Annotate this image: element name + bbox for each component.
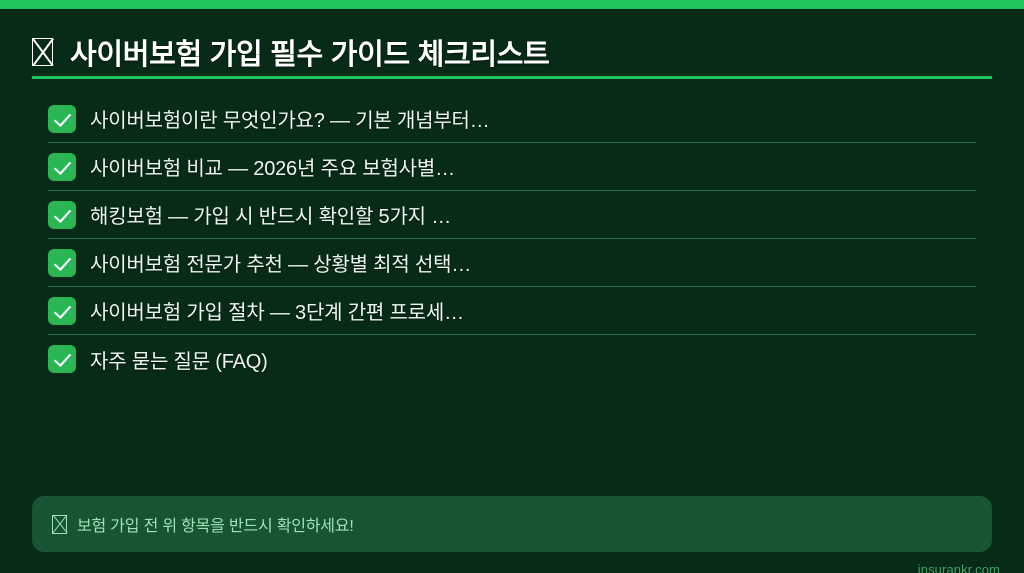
title-underline: [32, 76, 992, 79]
list-item[interactable]: 해킹보험 — 가입 시 반드시 확인할 5가지 …: [48, 191, 976, 239]
page-title-label: 사이버보험 가입 필수 가이드 체크리스트: [70, 31, 550, 73]
list-item[interactable]: 사이버보험 비교 — 2026년 주요 보험사별…: [48, 143, 976, 191]
notice-label: 보험 가입 전 위 항목을 반드시 확인하세요!: [77, 512, 354, 536]
checklist: 사이버보험이란 무엇인가요? — 기본 개념부터… 사이버보험 비교 — 202…: [48, 95, 976, 383]
notice-banner: 보험 가입 전 위 항목을 반드시 확인하세요!: [32, 496, 992, 552]
list-item[interactable]: 사이버보험 가입 절차 — 3단계 간편 프로세…: [48, 287, 976, 335]
title-missing-glyph-icon: [32, 38, 58, 66]
list-item-label: 사이버보험 가입 절차 — 3단계 간편 프로세…: [90, 296, 464, 325]
list-item[interactable]: 사이버보험이란 무엇인가요? — 기본 개념부터…: [48, 95, 976, 143]
list-item-label: 해킹보험 — 가입 시 반드시 확인할 5가지 …: [90, 200, 451, 229]
checklist-card: 사이버보험 가입 필수 가이드 체크리스트 사이버보험이란 무엇인가요? — 기…: [0, 0, 1024, 573]
check-icon[interactable]: [48, 249, 76, 277]
watermark: insurankr.com: [918, 562, 1000, 573]
top-accent-bar: [0, 0, 1024, 9]
list-item-label: 사이버보험 비교 — 2026년 주요 보험사별…: [90, 152, 455, 181]
check-icon[interactable]: [48, 345, 76, 373]
page-title: 사이버보험 가입 필수 가이드 체크리스트: [32, 31, 992, 73]
check-icon[interactable]: [48, 105, 76, 133]
list-item-label: 사이버보험이란 무엇인가요? — 기본 개념부터…: [90, 104, 490, 133]
list-item-label: 사이버보험 전문가 추천 — 상황별 최적 선택…: [90, 248, 471, 277]
list-item-label: 자주 묻는 질문 (FAQ): [90, 345, 268, 374]
check-icon[interactable]: [48, 201, 76, 229]
notice-missing-glyph-icon: [52, 515, 67, 534]
list-item[interactable]: 사이버보험 전문가 추천 — 상황별 최적 선택…: [48, 239, 976, 287]
check-icon[interactable]: [48, 297, 76, 325]
check-icon[interactable]: [48, 153, 76, 181]
list-item[interactable]: 자주 묻는 질문 (FAQ): [48, 335, 976, 383]
